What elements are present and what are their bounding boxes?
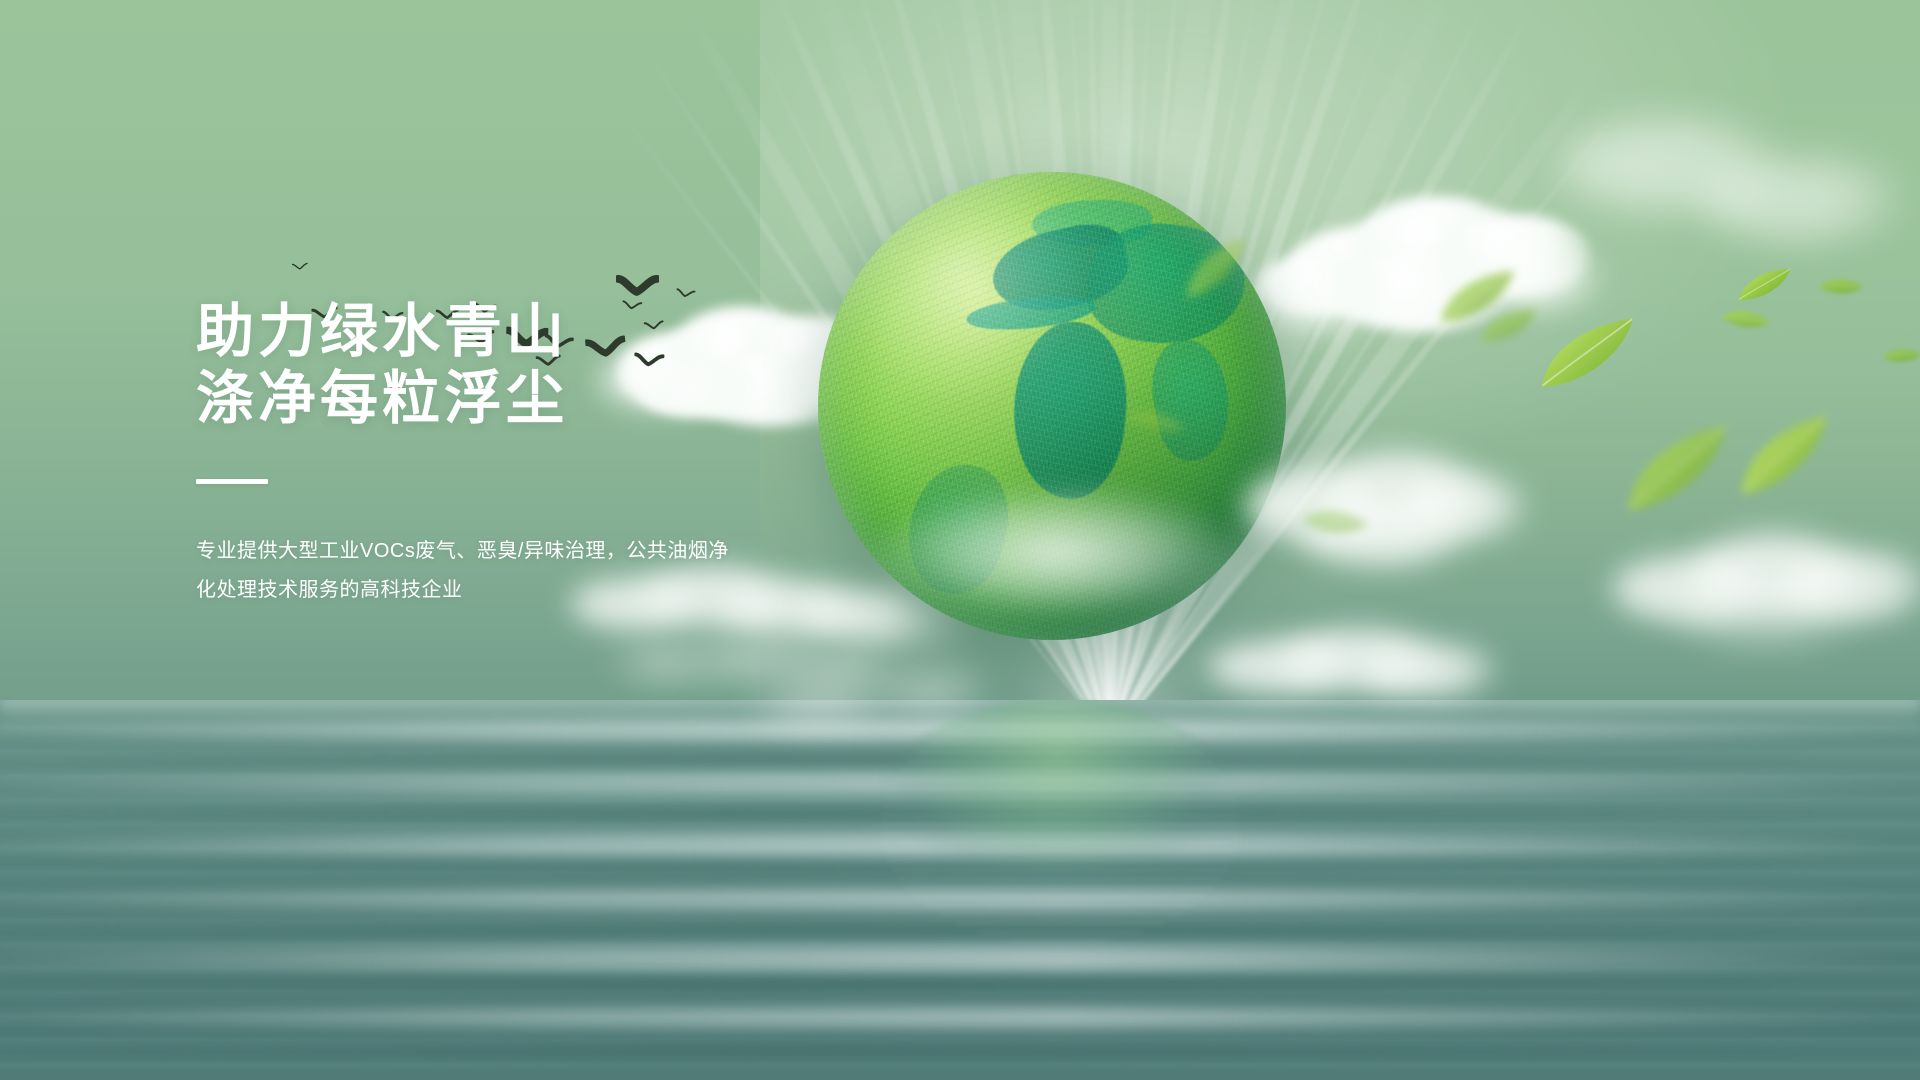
- bird-icon: [616, 274, 659, 300]
- continent-europe: [985, 217, 1134, 322]
- continent-north: [1032, 200, 1152, 246]
- banner-copy: 助力绿水青山 涤净每粒浮尘 专业提供大型工业VOCs废气、恶臭/异味治理，公共油…: [196, 298, 816, 610]
- headline-divider: [196, 479, 268, 484]
- hero-banner: 助力绿水青山 涤净每粒浮尘 专业提供大型工业VOCs废气、恶臭/异味治理，公共油…: [0, 0, 1920, 1080]
- description-line-2: 化处理技术服务的高科技企业: [196, 571, 736, 610]
- globe-sphere: [818, 172, 1286, 640]
- bird-icon: [292, 261, 309, 272]
- headline-line-1: 助力绿水青山: [196, 298, 816, 365]
- continent-mediterranean: [965, 291, 1097, 334]
- grass-texture-secondary: [818, 172, 1286, 640]
- continent-india: [1144, 334, 1238, 465]
- continent-south-america: [896, 454, 1021, 603]
- description-line-1: 专业提供大型工业VOCs废气、恶臭/异味治理，公共油烟净: [196, 532, 736, 571]
- continent-africa: [1005, 317, 1135, 504]
- water-ripple-band: [0, 1040, 1920, 1059]
- banner-description: 专业提供大型工业VOCs废气、恶臭/异味治理，公共油烟净 化处理技术服务的高科技…: [196, 532, 736, 610]
- water-ripple-band: [0, 1006, 1920, 1029]
- headline-line-2: 涤净每粒浮尘: [196, 365, 816, 432]
- grass-texture-primary: [818, 172, 1286, 640]
- globe-reflection-ripples: [880, 706, 1240, 946]
- continent-asia: [1080, 214, 1251, 355]
